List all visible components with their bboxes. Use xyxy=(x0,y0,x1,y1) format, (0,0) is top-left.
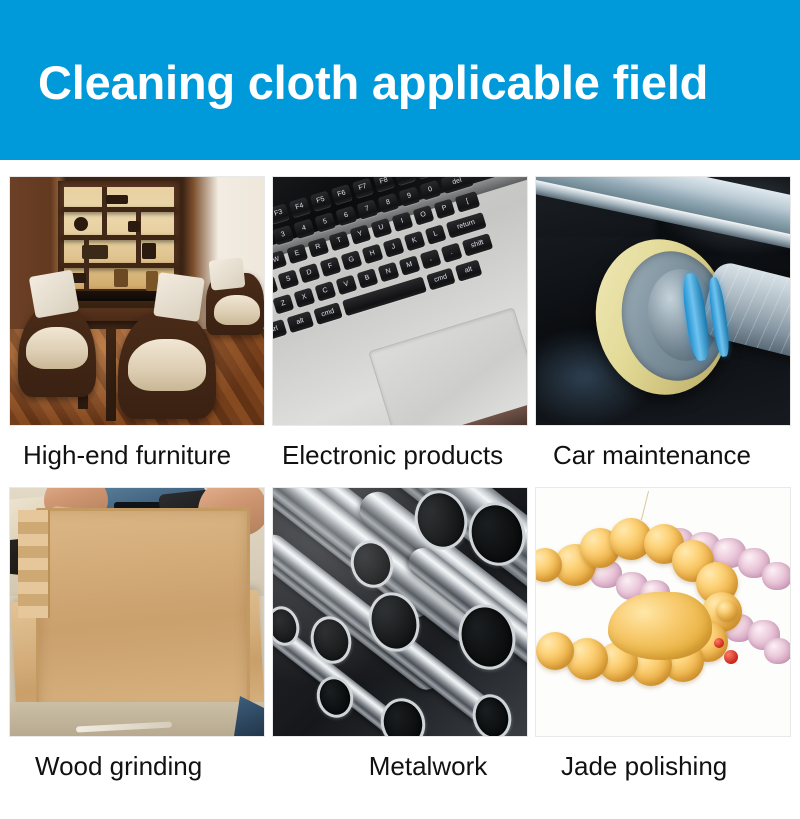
caption-car-maintenance: Car maintenance xyxy=(535,426,791,484)
caption-wood-grinding: Wood grinding xyxy=(9,737,265,795)
gallery-cell-metalwork[interactable]: Metalwork xyxy=(272,487,528,795)
caption-metalwork: Metalwork xyxy=(272,737,528,795)
caption-high-end-furniture: High-end furniture xyxy=(9,426,265,484)
infographic-page: Cleaning cloth applicable field xyxy=(0,0,800,819)
gallery-cell-wood-grinding[interactable]: Wood grinding xyxy=(9,487,265,795)
header-banner: Cleaning cloth applicable field xyxy=(0,0,800,160)
gallery-row: High-end furniture esc F1 F2 xyxy=(0,176,800,487)
gallery-cell-car-maintenance[interactable]: Car maintenance xyxy=(535,176,791,484)
page-title: Cleaning cloth applicable field xyxy=(38,58,708,107)
car-maintenance-photo xyxy=(535,176,791,426)
caption-jade-polishing: Jade polishing xyxy=(535,737,791,795)
gallery-cell-electronic-products[interactable]: esc F1 F2 F3 F4 F5 F6 F7 F8 F9 F10 xyxy=(272,176,528,484)
gallery-row: Wood grinding xyxy=(0,487,800,798)
application-field-gallery: High-end furniture esc F1 F2 xyxy=(0,176,800,798)
caption-electronic-products: Electronic products xyxy=(272,426,528,484)
gallery-cell-jade-polishing[interactable]: Jade polishing xyxy=(535,487,791,795)
gallery-cell-high-end-furniture[interactable]: High-end furniture xyxy=(9,176,265,484)
jade-polishing-photo xyxy=(535,487,791,737)
metalwork-photo xyxy=(272,487,528,737)
electronic-products-photo: esc F1 F2 F3 F4 F5 F6 F7 F8 F9 F10 xyxy=(272,176,528,426)
wood-grinding-photo xyxy=(9,487,265,737)
high-end-furniture-photo xyxy=(9,176,265,426)
